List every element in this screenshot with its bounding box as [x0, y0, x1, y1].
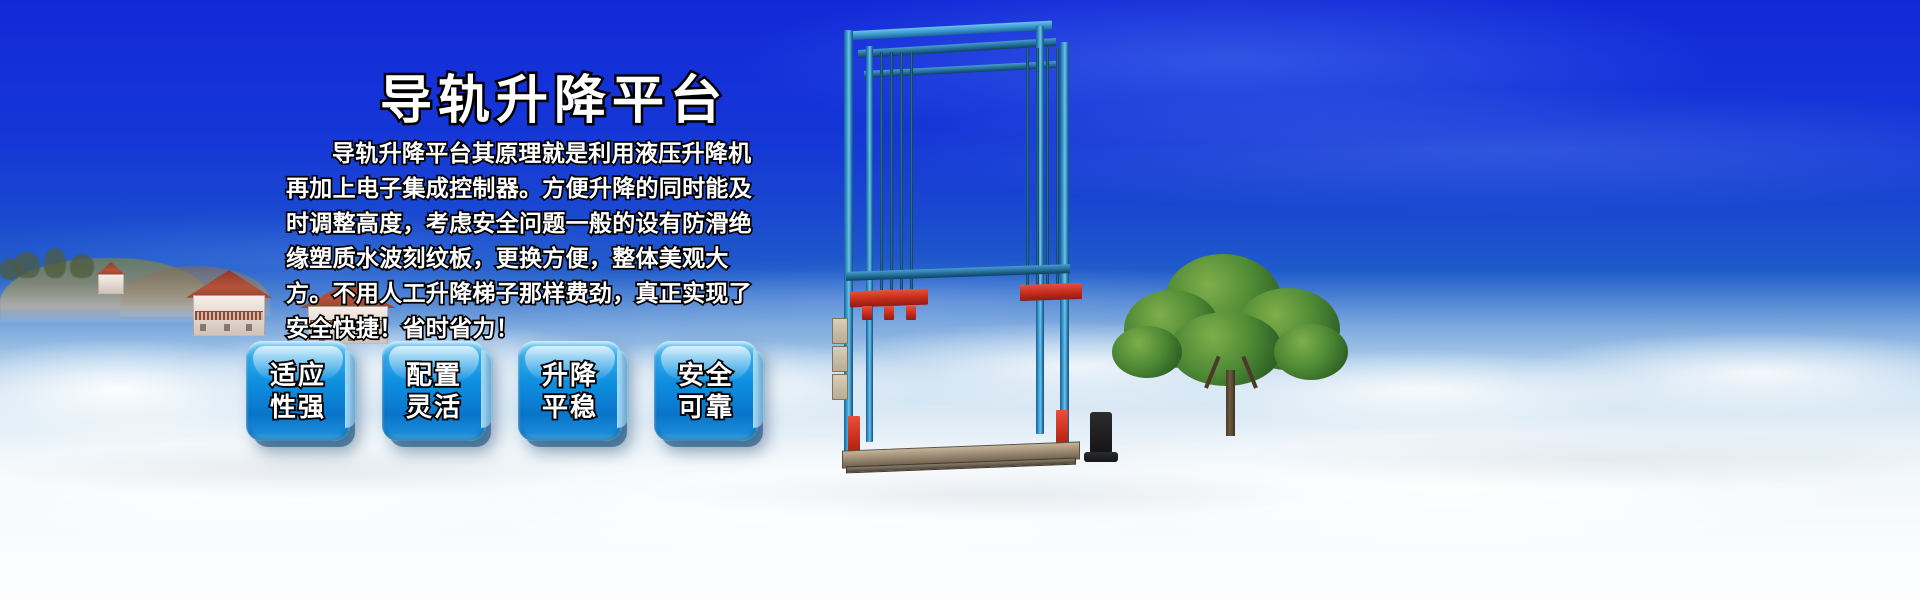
- machine-red-sheave-block: [884, 306, 894, 320]
- machine-red-crosshead-left: [850, 289, 928, 308]
- feature-badge-line2: 可靠: [678, 391, 734, 423]
- machine-guide-cable: [890, 52, 893, 290]
- machine-guide-cable: [1046, 48, 1049, 292]
- machine-guide-cable: [910, 52, 913, 290]
- description-paragraph: 导轨升降平台其原理就是利用液压升降机再加上电子集成控制器。方便升降的同时能及时调…: [286, 136, 764, 346]
- feature-badge-line1: 配置: [406, 359, 462, 391]
- feature-badge-row: 适应 性强 配置 灵活 升降 平稳 安全 可靠: [246, 341, 758, 441]
- machine-control-box: [832, 346, 848, 372]
- machine-red-sheave-block: [906, 306, 916, 320]
- machine-motor-base: [1084, 452, 1118, 462]
- promo-banner: 导轨升降平台 导轨升降平台其原理就是利用液压升降机再加上电子集成控制器。方便升降…: [0, 0, 1920, 600]
- page-title: 导轨升降平台: [380, 58, 728, 133]
- machine-control-box: [832, 374, 848, 400]
- machine-top-beam: [846, 21, 1052, 41]
- machine-red-sheave-block: [862, 306, 872, 320]
- machine-hydraulic-motor: [1090, 412, 1112, 454]
- feature-badge-line1: 安全: [678, 359, 734, 391]
- machine-control-box: [832, 318, 848, 344]
- machine-guide-cable: [880, 52, 883, 290]
- machine-guide-cable: [1026, 48, 1029, 292]
- feature-badge-line2: 灵活: [406, 391, 462, 423]
- feature-badge-line2: 平稳: [542, 391, 598, 423]
- feature-badge-line1: 适应: [270, 359, 326, 391]
- feature-badge-line2: 性强: [270, 391, 326, 423]
- machine-guide-cable: [900, 52, 903, 290]
- feature-badge-smooth-lifting[interactable]: 升降 平稳: [518, 341, 622, 441]
- guide-rail-lift-machine: [828, 18, 1128, 473]
- feature-badge-configuration[interactable]: 配置 灵活: [382, 341, 486, 441]
- feature-badge-safety[interactable]: 安全 可靠: [654, 341, 758, 441]
- feature-badge-adaptability[interactable]: 适应 性强: [246, 341, 350, 441]
- machine-mast-left-rear: [866, 46, 873, 442]
- machine-guide-cable: [1036, 48, 1039, 292]
- machine-guide-cable: [1056, 48, 1059, 292]
- machine-red-crosshead-right: [1020, 283, 1082, 301]
- feature-badge-line1: 升降: [542, 359, 598, 391]
- machine-mast-right-front: [1060, 42, 1069, 456]
